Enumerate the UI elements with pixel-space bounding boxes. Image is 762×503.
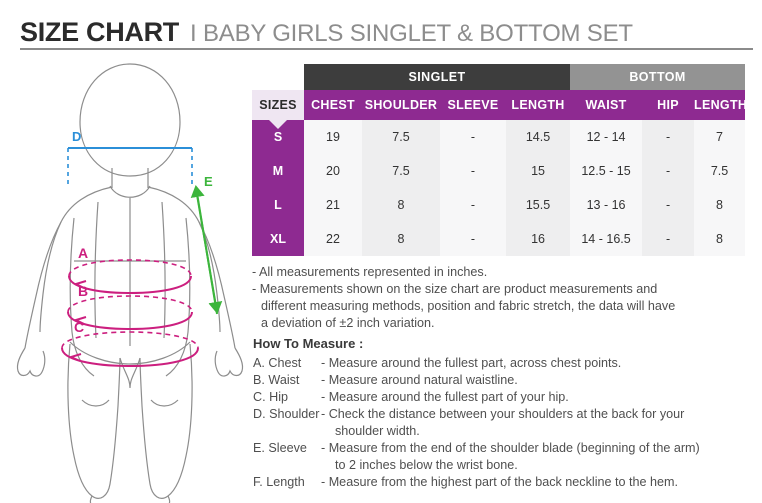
cell-m-length-bottom: 7.5 <box>694 154 745 188</box>
howto-desc-sleeve: - Measure from the end of the shoulder b… <box>321 440 758 474</box>
cell-l-length-bottom: 8 <box>694 188 745 222</box>
cell-xl-sleeve: - <box>440 222 506 256</box>
cell-xl-length-singlet: 16 <box>506 222 570 256</box>
column-header-row: SIZES CHEST SHOULDER SLEEVE LENGTH WAIST… <box>252 90 745 120</box>
sizes-header-label: SIZES <box>259 98 297 112</box>
table-row: XL 22 8 - 16 14 - 16.5 - 8 <box>252 222 745 256</box>
table-row: M 20 7.5 - 15 12.5 - 15 - 7.5 <box>252 154 745 188</box>
howto-key-shoulder: D. Shoulder <box>253 406 321 440</box>
baby-figure-illustration: D E A B <box>12 56 250 503</box>
howto-key-sleeve: E. Sleeve <box>253 440 321 474</box>
title-main: SIZE CHART <box>20 19 179 46</box>
cell-m-hip: - <box>642 154 694 188</box>
column-header-length-bottom: LENGTH <box>694 90 745 120</box>
table-row: S 19 7.5 - 14.5 12 - 14 - 7 <box>252 120 745 154</box>
cell-l-length-singlet: 15.5 <box>506 188 570 222</box>
howto-desc-waist: - Measure around natural waistline. <box>321 372 758 389</box>
group-header-row: SINGLET BOTTOM <box>252 64 745 90</box>
page-title: SIZE CHART I BABY GIRLS SINGLET & BOTTOM… <box>20 8 746 46</box>
cell-l-hip: - <box>642 188 694 222</box>
sizes-notch-icon <box>269 120 287 129</box>
how-to-measure-section: How To Measure : A. Chest - Measure arou… <box>253 336 758 491</box>
howto-item-hip: C. Hip - Measure around the fullest part… <box>253 389 758 406</box>
howto-item-shoulder: D. Shoulder - Check the distance between… <box>253 406 758 440</box>
howto-desc-length: - Measure from the highest part of the b… <box>321 474 758 491</box>
cell-xl-hip: - <box>642 222 694 256</box>
cell-l-chest: 21 <box>304 188 362 222</box>
cell-s-waist: 12 - 14 <box>570 120 642 154</box>
howto-key-waist: B. Waist <box>253 372 321 389</box>
size-label-m: M <box>252 154 304 188</box>
cell-l-shoulder: 8 <box>362 188 440 222</box>
cell-m-length-singlet: 15 <box>506 154 570 188</box>
howto-key-chest: A. Chest <box>253 355 321 372</box>
column-header-chest: CHEST <box>304 90 362 120</box>
cell-xl-length-bottom: 8 <box>694 222 745 256</box>
title-divider <box>20 48 753 50</box>
title-subtitle: I BABY GIRLS SINGLET & BOTTOM SET <box>190 22 633 46</box>
cell-xl-shoulder: 8 <box>362 222 440 256</box>
measurement-notes: - All measurements represented in inches… <box>252 264 752 332</box>
cell-l-sleeve: - <box>440 188 506 222</box>
sleeve-measure-e <box>196 187 217 314</box>
howto-item-waist: B. Waist - Measure around natural waistl… <box>253 372 758 389</box>
cell-s-length-singlet: 14.5 <box>506 120 570 154</box>
size-chart-table: SINGLET BOTTOM SIZES CHEST SHOULDER SLEE… <box>252 64 745 256</box>
body-outline <box>17 64 242 503</box>
group-header-bottom: BOTTOM <box>570 64 745 90</box>
note-line-2: - Measurements shown on the size chart a… <box>252 281 752 298</box>
note-line-1: - All measurements represented in inches… <box>252 264 752 281</box>
figure-label-a: A <box>78 245 88 261</box>
howto-item-chest: A. Chest - Measure around the fullest pa… <box>253 355 758 372</box>
howto-item-length: F. Length - Measure from the highest par… <box>253 474 758 491</box>
howto-desc-shoulder: - Check the distance between your should… <box>321 406 758 440</box>
column-header-sizes: SIZES <box>252 90 304 120</box>
cell-l-waist: 13 - 16 <box>570 188 642 222</box>
cell-s-hip: - <box>642 120 694 154</box>
cell-m-shoulder: 7.5 <box>362 154 440 188</box>
figure-label-b: B <box>78 283 88 299</box>
cell-s-shoulder: 7.5 <box>362 120 440 154</box>
cell-xl-waist: 14 - 16.5 <box>570 222 642 256</box>
howto-item-sleeve: E. Sleeve - Measure from the end of the … <box>253 440 758 474</box>
howto-desc-chest: - Measure around the fullest part, acros… <box>321 355 758 372</box>
cell-m-sleeve: - <box>440 154 506 188</box>
howto-key-length: F. Length <box>253 474 321 491</box>
cell-xl-chest: 22 <box>304 222 362 256</box>
howto-desc-hip: - Measure around the fullest part of you… <box>321 389 758 406</box>
figure-label-e: E <box>204 174 213 189</box>
howto-desc-shoulder-line1: - Check the distance between your should… <box>321 407 684 421</box>
size-label-l: L <box>252 188 304 222</box>
cell-s-chest: 19 <box>304 120 362 154</box>
column-header-sleeve: SLEEVE <box>440 90 506 120</box>
table-row: L 21 8 - 15.5 13 - 16 - 8 <box>252 188 745 222</box>
howto-key-hip: C. Hip <box>253 389 321 406</box>
howto-desc-shoulder-line2: shoulder width. <box>321 423 758 440</box>
cell-m-chest: 20 <box>304 154 362 188</box>
howto-desc-sleeve-line2: to 2 inches below the wrist bone. <box>321 457 758 474</box>
column-header-length-singlet: LENGTH <box>506 90 570 120</box>
cell-s-sleeve: - <box>440 120 506 154</box>
note-line-4: a deviation of ±2 inch variation. <box>252 315 752 332</box>
figure-label-c: C <box>74 319 84 335</box>
shoulder-measure-d <box>68 148 192 186</box>
column-header-hip: HIP <box>642 90 694 120</box>
figure-label-d: D <box>72 129 81 144</box>
cell-s-length-bottom: 7 <box>694 120 745 154</box>
group-header-singlet: SINGLET <box>304 64 570 90</box>
size-label-xl: XL <box>252 222 304 256</box>
note-line-3: different measuring methods, position an… <box>252 298 752 315</box>
column-header-shoulder: SHOULDER <box>362 90 440 120</box>
how-to-measure-title: How To Measure : <box>253 336 758 351</box>
group-header-blank <box>252 64 304 90</box>
column-header-waist: WAIST <box>570 90 642 120</box>
howto-desc-sleeve-line1: - Measure from the end of the shoulder b… <box>321 441 700 455</box>
cell-m-waist: 12.5 - 15 <box>570 154 642 188</box>
